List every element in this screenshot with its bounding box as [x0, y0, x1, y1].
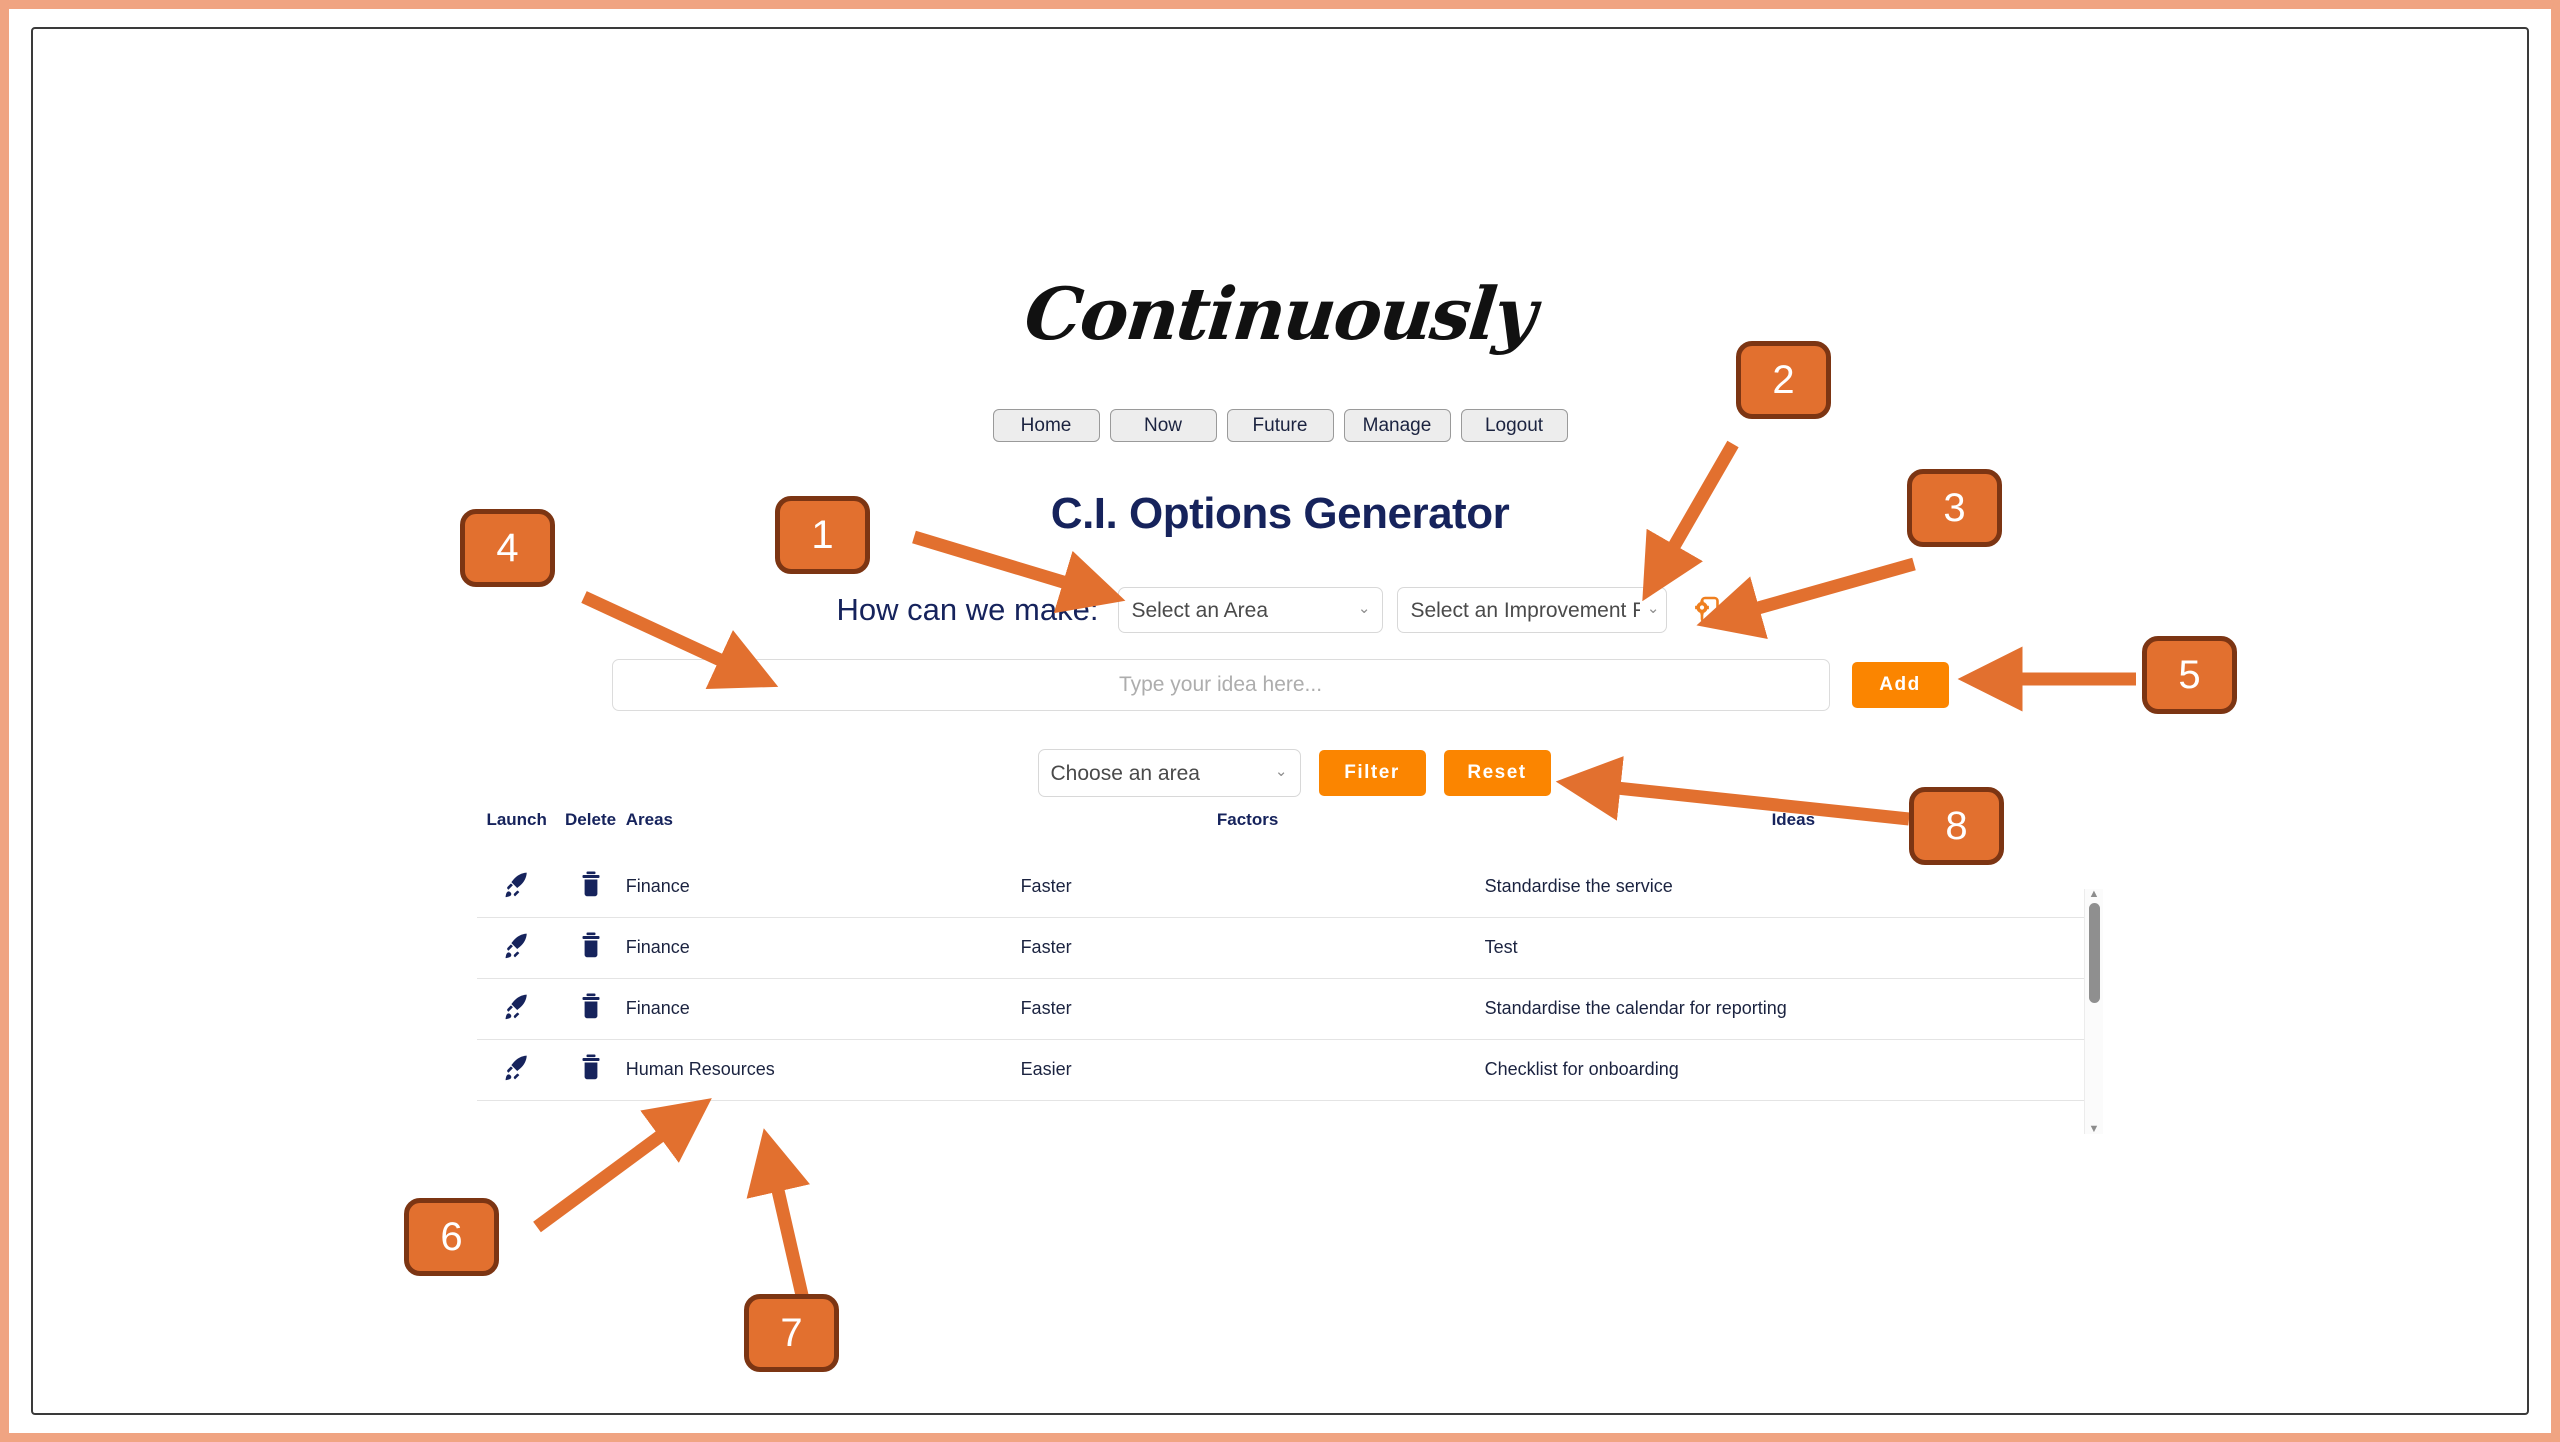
annotation-badge-5: 5: [2142, 636, 2237, 714]
cell-area: Human Resources: [625, 1039, 1011, 1100]
cell-idea: Checklist for onboarding: [1485, 1039, 2102, 1100]
trash-icon[interactable]: [580, 871, 602, 902]
launch-cell: [477, 978, 556, 1039]
filter-bar: Choose an area ⌄ Filter Reset: [9, 749, 2551, 797]
column-header-ideas: Ideas: [1485, 809, 2102, 856]
column-header-areas: Areas: [625, 809, 1011, 856]
table-row[interactable]: Finance Faster Standardise the service: [477, 856, 2102, 917]
factor-select-wrapper: Select an Improvement Factor ⌄: [1397, 587, 1667, 633]
generator-prompt-label: How can we make:: [837, 592, 1099, 628]
annotation-badge-6: 6: [404, 1198, 499, 1276]
screenshot-root: Continuously Home Now Future Manage Logo…: [0, 0, 2560, 1442]
ideas-table: Launch Delete Areas Factors Ideas: [477, 809, 2102, 1101]
brand-logo: Continuously: [5, 271, 2556, 356]
column-header-factors: Factors: [1011, 809, 1485, 856]
column-header-delete: Delete: [556, 809, 624, 856]
page-title: C.I. Options Generator: [9, 489, 2551, 539]
choose-area-select-wrapper: Choose an area ⌄: [1038, 749, 1301, 797]
cell-idea: Standardise the service: [1485, 856, 2102, 917]
table-row[interactable]: Finance Faster Standardise the calendar …: [477, 978, 2102, 1039]
cell-factor: Faster: [1011, 978, 1485, 1039]
rocket-icon[interactable]: [502, 1052, 532, 1087]
app-content: Continuously Home Now Future Manage Logo…: [9, 9, 2551, 1433]
launch-cell: [477, 856, 556, 917]
idea-input[interactable]: [612, 659, 1830, 711]
annotation-badge-7: 7: [744, 1294, 839, 1372]
nav-item-manage[interactable]: Manage: [1344, 409, 1451, 442]
ideas-table-container: Launch Delete Areas Factors Ideas: [477, 809, 2102, 1101]
improvement-factor-select[interactable]: Select an Improvement Factor: [1397, 587, 1667, 633]
launch-cell: [477, 1039, 556, 1100]
launch-cell: [477, 917, 556, 978]
choose-area-select[interactable]: Choose an area: [1038, 749, 1301, 797]
scroll-down-arrow-icon[interactable]: ▼: [2089, 1124, 2100, 1134]
cell-idea: Test: [1485, 917, 2102, 978]
delete-cell: [556, 856, 624, 917]
scroll-up-arrow-icon[interactable]: ▲: [2089, 889, 2100, 899]
table-row[interactable]: Finance Faster Test: [477, 917, 2102, 978]
delete-cell: [556, 978, 624, 1039]
trash-icon[interactable]: [580, 993, 602, 1024]
generator-form-row: How can we make: Select an Area ⌄ Select…: [9, 587, 2551, 633]
cell-idea: Standardise the calendar for reporting: [1485, 978, 2102, 1039]
scrollbar-track[interactable]: [2089, 903, 2100, 1120]
annotation-badge-4: 4: [460, 509, 555, 587]
nav-item-future[interactable]: Future: [1227, 409, 1334, 442]
add-button[interactable]: Add: [1852, 662, 1949, 708]
filter-button[interactable]: Filter: [1319, 750, 1426, 796]
scrollbar-thumb[interactable]: [2089, 903, 2100, 1003]
cell-factor: Faster: [1011, 856, 1485, 917]
delete-cell: [556, 917, 624, 978]
cell-factor: Faster: [1011, 917, 1485, 978]
cell-area: Finance: [625, 978, 1011, 1039]
rocket-icon[interactable]: [502, 869, 532, 904]
area-select-wrapper: Select an Area ⌄: [1118, 587, 1383, 633]
main-navigation: Home Now Future Manage Logout: [9, 409, 2551, 442]
annotation-badge-8: 8: [1909, 787, 2004, 865]
cell-area: Finance: [625, 917, 1011, 978]
table-row[interactable]: Human Resources Easier Checklist for onb…: [477, 1039, 2102, 1100]
annotation-badge-1: 1: [775, 496, 870, 574]
column-header-launch: Launch: [477, 809, 556, 856]
nav-item-now[interactable]: Now: [1110, 409, 1217, 442]
trash-icon[interactable]: [580, 932, 602, 963]
nav-item-logout[interactable]: Logout: [1461, 409, 1568, 442]
reset-button[interactable]: Reset: [1444, 750, 1551, 796]
gear-card-icon[interactable]: [1689, 593, 1723, 627]
table-header-row: Launch Delete Areas Factors Ideas: [477, 809, 2102, 856]
trash-icon[interactable]: [580, 1054, 602, 1085]
nav-item-home[interactable]: Home: [993, 409, 1100, 442]
annotation-badge-3: 3: [1907, 469, 2002, 547]
area-select[interactable]: Select an Area: [1118, 587, 1383, 633]
annotation-badge-2: 2: [1736, 341, 1831, 419]
table-scrollbar[interactable]: ▲ ▼: [2084, 889, 2103, 1134]
cell-factor: Easier: [1011, 1039, 1485, 1100]
cell-area: Finance: [625, 856, 1011, 917]
delete-cell: [556, 1039, 624, 1100]
rocket-icon[interactable]: [502, 991, 532, 1026]
rocket-icon[interactable]: [502, 930, 532, 965]
